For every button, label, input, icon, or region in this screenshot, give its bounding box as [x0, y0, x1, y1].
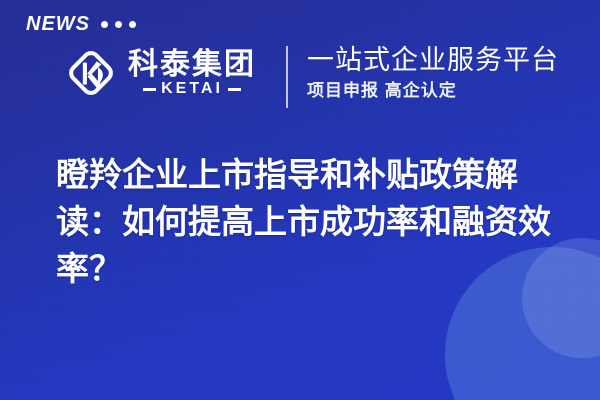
brand-divider	[286, 46, 288, 108]
dot-icon	[101, 21, 108, 28]
brand-name-cn: 科泰集团	[128, 49, 256, 81]
tagline-sub: 项目申报 高企认定	[307, 81, 559, 101]
brand-lockup: 科泰集团 KETAI	[62, 44, 256, 102]
news-banner: NEWS 科泰集团 KETAI	[0, 0, 600, 400]
tagline-block: 一站式企业服务平台 项目申报 高企认定	[307, 44, 559, 102]
brand-text: 科泰集团 KETAI	[128, 49, 256, 98]
rule-right-icon	[228, 88, 241, 91]
brand-en-row: KETAI	[128, 81, 256, 97]
brand-name-en: KETAI	[161, 81, 223, 97]
dot-icon	[129, 21, 136, 28]
headline-title: 瞪羚企业上市指导和补贴政策解读：如何提高上市成功率和融资效率？	[56, 152, 568, 293]
ketai-kd-monogram-icon	[62, 44, 120, 102]
rule-left-icon	[143, 88, 156, 91]
news-label: NEWS	[26, 14, 90, 34]
tagline-main: 一站式企业服务平台	[307, 44, 559, 76]
news-eyebrow: NEWS	[26, 14, 136, 34]
eyebrow-dots-icon	[101, 21, 136, 28]
dot-icon	[115, 21, 122, 28]
